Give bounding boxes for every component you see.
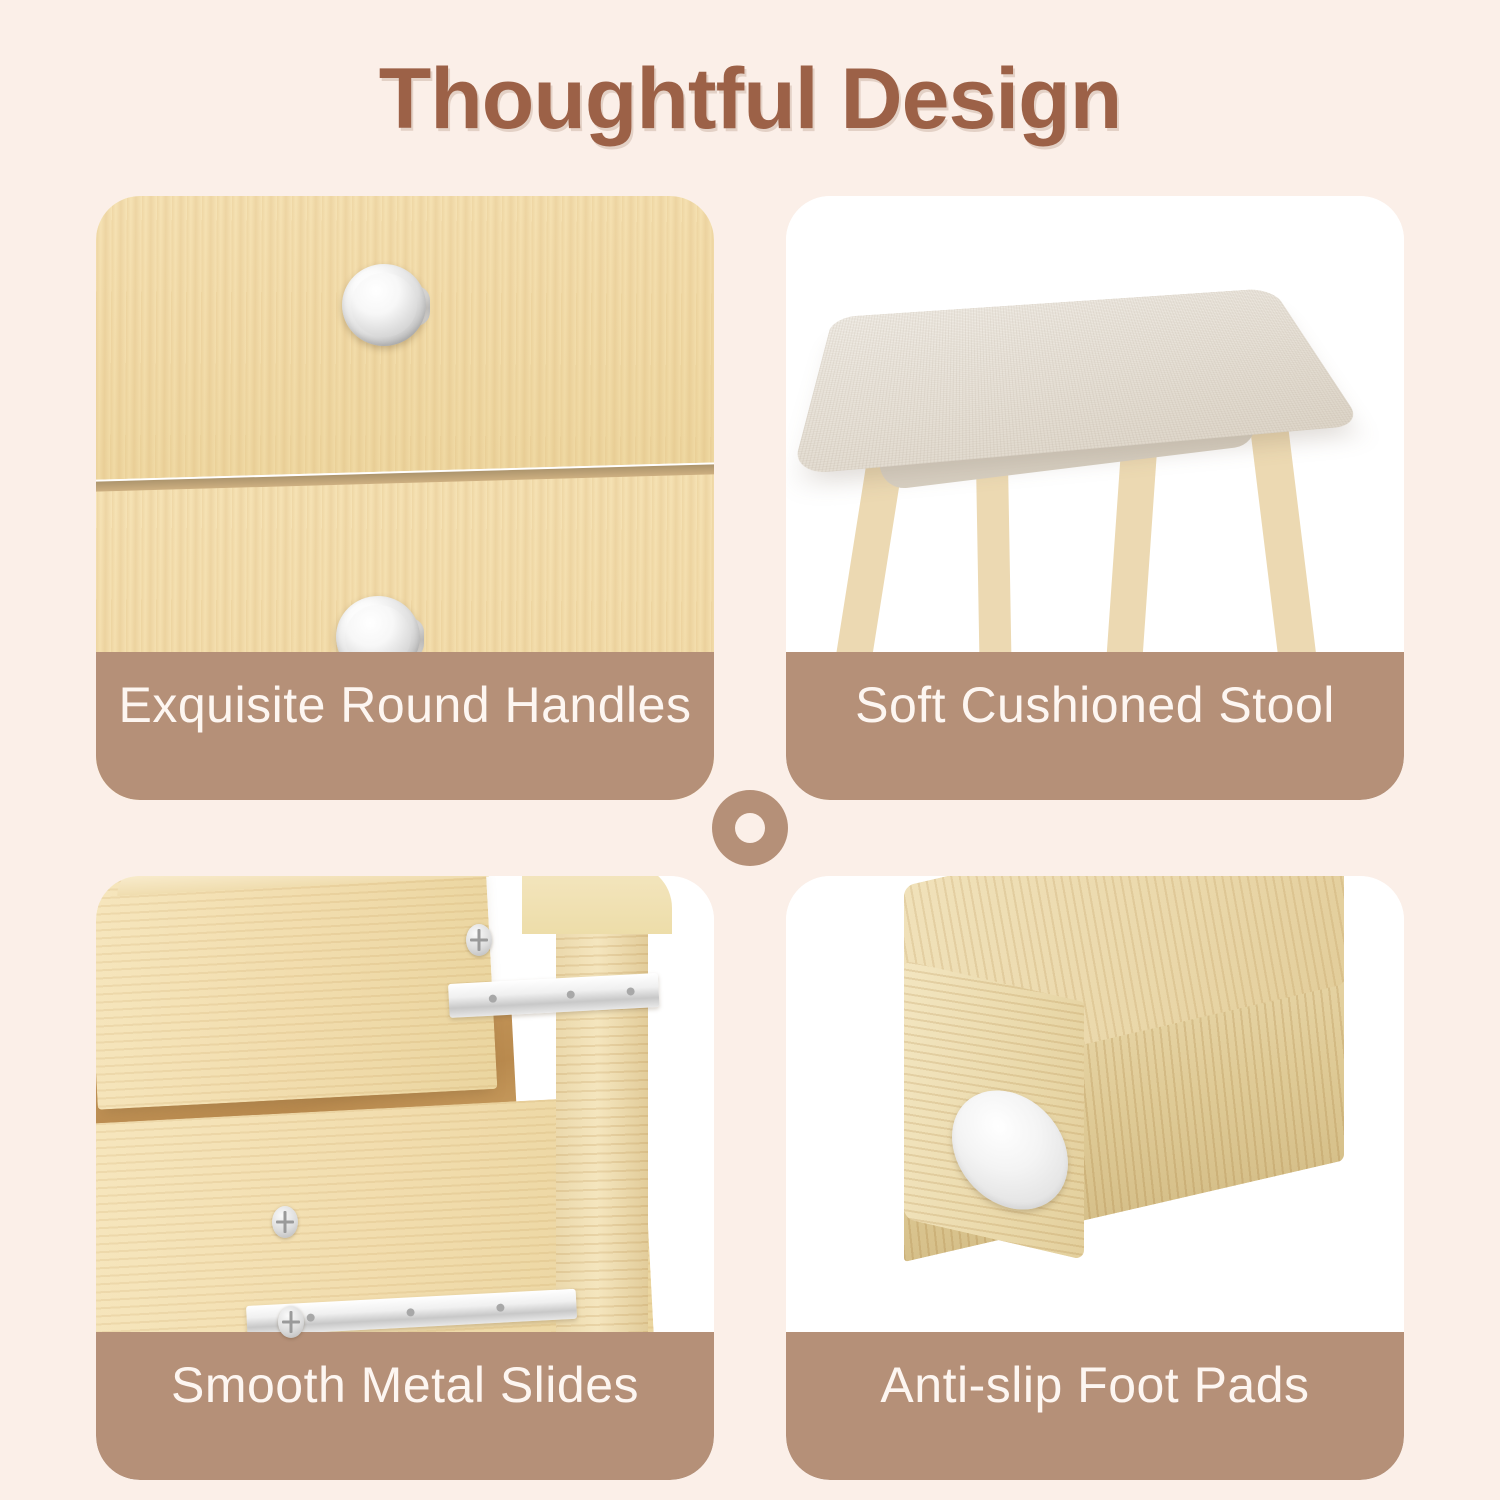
screw-icon — [272, 1206, 298, 1238]
feature-caption-label: Anti-slip Foot Pads — [880, 1356, 1309, 1414]
feature-card-round-handles[interactable]: Exquisite Round Handles — [96, 196, 714, 800]
center-ring-icon — [712, 790, 788, 866]
feature-card-metal-slides[interactable]: Smooth Metal Slides — [96, 876, 714, 1480]
rail-rivet — [306, 1313, 314, 1321]
open-drawer-upper — [96, 876, 497, 1110]
screw-icon — [278, 1306, 304, 1338]
feature-caption-bar: Exquisite Round Handles — [96, 652, 714, 800]
rail-rivet — [406, 1308, 414, 1316]
feature-caption-bar: Soft Cushioned Stool — [786, 652, 1404, 800]
feature-caption-label: Soft Cushioned Stool — [855, 676, 1335, 734]
feature-card-foot-pads[interactable]: Anti-slip Foot Pads — [786, 876, 1404, 1480]
cabinet-top-corner — [522, 876, 672, 934]
feature-caption-label: Exquisite Round Handles — [119, 676, 692, 734]
rail-rivet — [626, 987, 634, 995]
page-title: Thoughtful Design — [0, 52, 1500, 147]
feature-caption-bar: Anti-slip Foot Pads — [786, 1332, 1404, 1480]
feature-caption-bar: Smooth Metal Slides — [96, 1332, 714, 1480]
screw-icon — [466, 924, 492, 956]
rail-rivet — [567, 990, 575, 998]
knob-cap — [342, 264, 426, 346]
drawer-knob-icon — [342, 264, 434, 350]
feature-card-cushioned-stool[interactable]: Soft Cushioned Stool — [786, 196, 1404, 800]
rail-rivet — [496, 1303, 504, 1311]
rail-rivet — [489, 994, 497, 1002]
feature-caption-label: Smooth Metal Slides — [171, 1356, 639, 1414]
